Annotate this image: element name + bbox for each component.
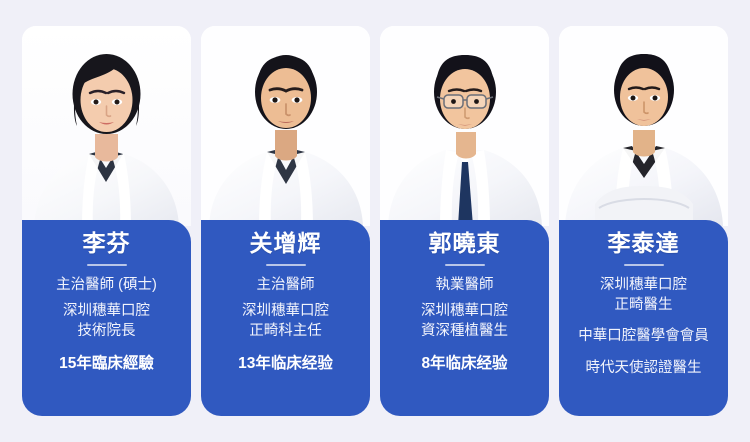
doctor-photo [22,26,191,226]
doctor-card[interactable]: 郭曉東 執業醫師 深圳穗華口腔 資深種植醫生 8年临床经验 [380,26,549,416]
doctor-affiliation: 深圳穗華口腔 技術院長 [28,301,185,341]
doctor-card[interactable]: 李泰達 深圳穗華口腔 正畸醫生 中華口腔醫學會會員 時代天使認證醫生 [559,26,728,416]
doctor-card[interactable]: 李芬 主治醫師 (碩士) 深圳穗華口腔 技術院長 15年臨床經驗 [22,26,191,416]
doctor-card[interactable]: 关增辉 主治醫師 深圳穗華口腔 正畸科主任 13年临床经验 [201,26,370,416]
name-divider [445,264,485,266]
doctor-photo [201,26,370,226]
doctor-photo [380,26,549,226]
name-divider [624,264,664,266]
doctor-experience: 15年臨床經驗 [28,354,185,374]
doctor-experience: 13年临床经验 [207,354,364,374]
doctor-team-showcase: 李芬 主治醫師 (碩士) 深圳穗華口腔 技術院長 15年臨床經驗 [0,0,750,442]
doctor-experience: 8年临床经验 [386,354,543,374]
doctor-title: 主治醫師 (碩士) [28,275,185,295]
doctor-affiliation: 中華口腔醫學會會員 [565,327,722,347]
doctor-name: 郭曉東 [386,231,543,255]
doctor-name: 关增辉 [207,231,364,255]
doctor-info-panel: 李泰達 深圳穗華口腔 正畸醫生 中華口腔醫學會會員 時代天使認證醫生 [559,220,728,416]
doctor-affiliation: 深圳穗華口腔 資深種植醫生 [386,301,543,341]
name-divider [266,264,306,266]
doctor-info-panel: 郭曉東 執業醫師 深圳穗華口腔 資深種植醫生 8年临床经验 [380,220,549,416]
doctor-name: 李芬 [28,231,185,255]
doctor-photo [559,26,728,226]
doctor-name: 李泰達 [565,231,722,255]
doctor-info-panel: 李芬 主治醫師 (碩士) 深圳穗華口腔 技術院長 15年臨床經驗 [22,220,191,416]
doctor-experience: 時代天使認證醫生 [565,359,722,379]
name-divider [87,264,127,266]
doctor-card-row: 李芬 主治醫師 (碩士) 深圳穗華口腔 技術院長 15年臨床經驗 [22,26,728,416]
doctor-info-panel: 关增辉 主治醫師 深圳穗華口腔 正畸科主任 13年临床经验 [201,220,370,416]
doctor-title: 執業醫師 [386,275,543,295]
doctor-title: 深圳穗華口腔 正畸醫生 [565,275,722,315]
doctor-affiliation: 深圳穗華口腔 正畸科主任 [207,301,364,341]
doctor-title: 主治醫師 [207,275,364,295]
